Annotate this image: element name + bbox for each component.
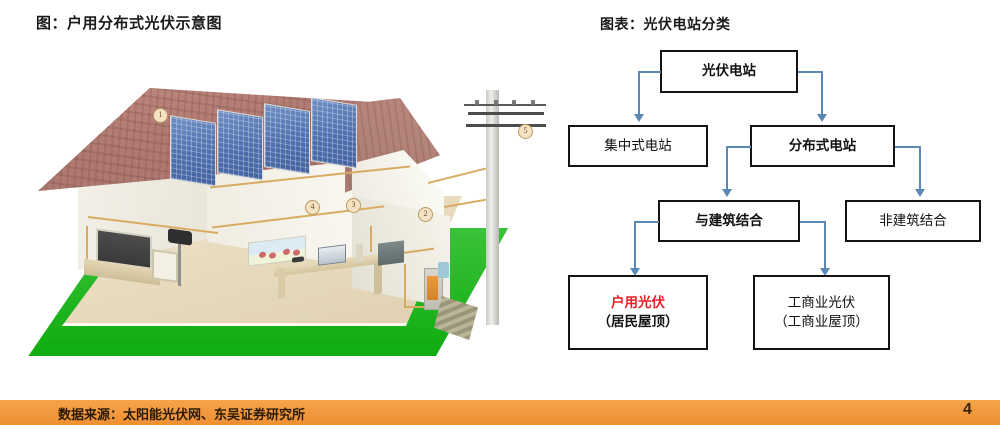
solar-panel-array <box>170 110 370 180</box>
water-tank <box>438 262 449 278</box>
laptop <box>318 244 346 265</box>
conn-bi-right-h <box>800 221 826 223</box>
conn-dist-left-v <box>726 146 728 190</box>
desk-leg-right <box>374 262 382 295</box>
pole-insulator-3 <box>512 100 516 105</box>
callout-4: 4 <box>305 200 320 215</box>
artwork-dot-1 <box>259 251 266 258</box>
conn-dist-right-h <box>895 146 921 148</box>
node-distributed-station[interactable]: 分布式电站 <box>750 125 895 167</box>
photovoltaic-classification-flowchart: 光伏电站 集中式电站 分布式电站 与建筑结合 非建筑结合 <box>560 40 1000 370</box>
house-illustration: 1 2 3 4 5 <box>0 46 560 366</box>
conn-root-left-h <box>638 71 661 73</box>
node-non-building[interactable]: 非建筑结合 <box>845 200 981 242</box>
cable-drop-left <box>86 226 88 260</box>
artwork-dot-4 <box>293 249 300 256</box>
data-source-text: 数据来源：太阳能光伏网、东吴证券研究所 <box>58 404 305 423</box>
node-building-integrated[interactable]: 与建筑结合 <box>658 200 800 242</box>
floor-lamp-pole <box>178 242 181 286</box>
pole-crossarm-upper <box>468 112 544 115</box>
node-residential-pv[interactable]: 户用光伏 （居民屋顶） <box>568 275 708 350</box>
conn-dist-left-h <box>726 146 751 148</box>
callout-3: 3 <box>346 198 361 213</box>
node-pv-power-station[interactable]: 光伏电站 <box>660 50 798 93</box>
solar-panel-3 <box>264 103 310 175</box>
electric-meter-face <box>427 276 438 300</box>
conn-bi-left-v <box>634 221 636 269</box>
pole-insulator-1 <box>475 100 479 105</box>
desk-leg-left <box>278 268 285 299</box>
node-residential-pv-subtitle: （居民屋顶） <box>598 313 679 331</box>
pole-insulator-2 <box>494 100 498 105</box>
arrow-root-to-distributed <box>817 114 827 122</box>
node-residential-pv-title: 户用光伏 <box>611 294 665 312</box>
callout-1: 1 <box>153 108 168 123</box>
inverter-unit <box>378 240 404 265</box>
conn-bi-left-h <box>634 221 659 223</box>
pole-insulator-4 <box>531 100 535 105</box>
conn-bi-right-v <box>824 221 826 269</box>
callout-5: 5 <box>518 124 533 139</box>
conn-root-left-v <box>638 71 640 115</box>
arrow-root-to-centralized <box>634 114 644 122</box>
solar-panel-1 <box>170 115 216 187</box>
node-commercial-pv-subtitle: （工商业屋顶） <box>774 313 869 331</box>
page-number: 4 <box>963 401 972 419</box>
table-lamp <box>356 244 363 263</box>
cable-meter-drop <box>404 264 406 308</box>
right-panel-title: 图表：光伏电站分类 <box>600 14 731 34</box>
cable-to-inverter <box>370 226 372 252</box>
picture-frame <box>152 249 178 283</box>
solar-panel-2 <box>217 109 263 181</box>
cable-service-drop <box>428 166 492 184</box>
conn-dist-right-v <box>919 146 921 190</box>
conn-root-right-v <box>821 71 823 115</box>
pole-crossarm-lower <box>466 124 546 127</box>
node-commercial-pv-title: 工商业光伏 <box>788 294 856 312</box>
solar-panel-4 <box>311 97 357 169</box>
artwork-dot-3 <box>283 248 290 255</box>
node-commercial-pv[interactable]: 工商业光伏 （工商业屋顶） <box>753 275 890 350</box>
slide-root: 图：户用分布式光伏示意图 图表：光伏电站分类 <box>0 0 1000 429</box>
left-panel-title: 图：户用分布式光伏示意图 <box>36 12 222 33</box>
arrow-dist-to-building <box>722 189 732 197</box>
node-centralized-station[interactable]: 集中式电站 <box>568 125 708 167</box>
arrow-dist-to-nonbuilding <box>915 189 925 197</box>
artwork-dot-2 <box>269 252 276 259</box>
callout-2: 2 <box>418 207 433 222</box>
conn-root-right-h <box>798 71 822 73</box>
